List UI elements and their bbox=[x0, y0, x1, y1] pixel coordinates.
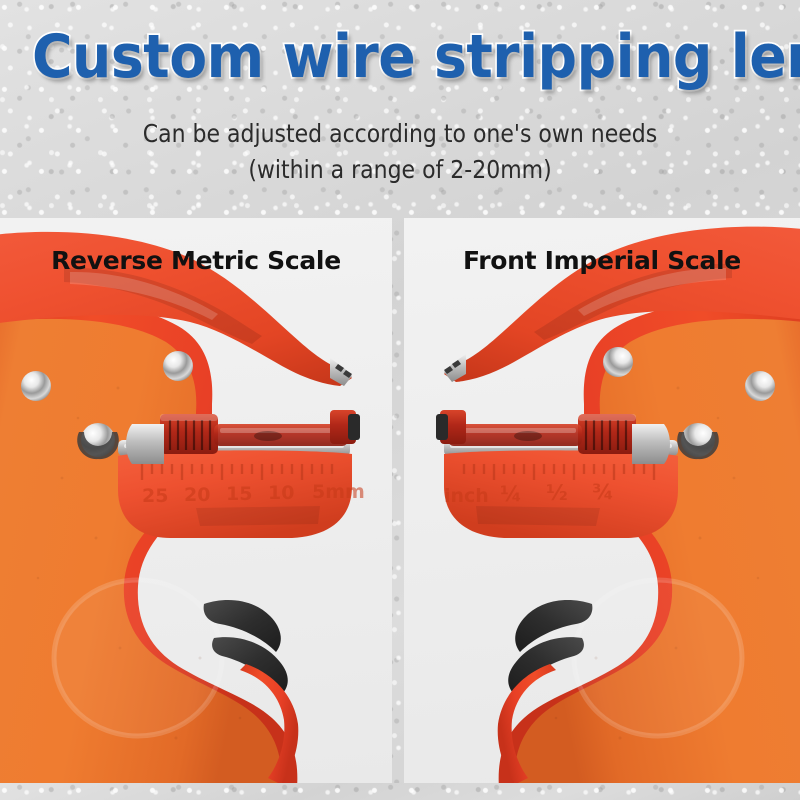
wire-stripper-tool-metric: 25 20 15 10 5mm bbox=[0, 218, 392, 783]
rivet-upper-left bbox=[745, 371, 775, 401]
slider-stop-cap bbox=[436, 414, 448, 440]
slider-arm-slot bbox=[514, 431, 542, 441]
slider-highlight bbox=[578, 414, 636, 421]
subtitle-line-1: Can be adjusted according to one's own n… bbox=[48, 116, 752, 152]
slider-highlight bbox=[160, 414, 218, 421]
lower-jaw-emboss bbox=[196, 506, 320, 526]
slider-arm-slot bbox=[254, 431, 282, 441]
scale-mark-15: 15 bbox=[226, 483, 252, 505]
page-title: Custom wire stripping length bbox=[32, 24, 768, 90]
scale-mark-quarter: ¼ bbox=[500, 482, 522, 506]
chrome-side-plate bbox=[632, 424, 670, 464]
scale-mark-10: 10 bbox=[268, 482, 294, 504]
slider-arm-highlight bbox=[456, 428, 576, 433]
product-feature-image: Custom wire stripping length Can be adju… bbox=[0, 0, 800, 800]
rivet-upper-right bbox=[163, 351, 193, 381]
rivet-upper-right bbox=[603, 347, 633, 377]
panel-front-imperial-scale: inch ¼ ½ ¾ bbox=[404, 218, 800, 783]
scale-mark-5mm: 5mm bbox=[312, 481, 365, 503]
bottom-strip bbox=[0, 783, 800, 800]
rivet-upper-left bbox=[21, 371, 51, 401]
panel-label-front-imperial: Front Imperial Scale bbox=[404, 246, 800, 275]
scale-mark-inch: inch bbox=[444, 485, 489, 507]
lower-jaw-emboss bbox=[476, 506, 600, 526]
slider-arm-highlight bbox=[220, 428, 340, 433]
scale-mark-three-quarter: ¾ bbox=[592, 480, 614, 504]
subtitle-line-2: (within a range of 2-20mm) bbox=[48, 152, 752, 188]
scale-mark-half: ½ bbox=[546, 481, 568, 505]
comparison-panels: 25 20 15 10 5mm bbox=[0, 218, 800, 783]
chrome-side-plate bbox=[126, 424, 164, 464]
handle-emboss-fill bbox=[574, 580, 742, 736]
header-banner: Custom wire stripping length Can be adju… bbox=[0, 0, 800, 218]
scale-mark-20: 20 bbox=[184, 484, 210, 506]
slider-stop-cap bbox=[348, 414, 360, 440]
panel-label-reverse-metric: Reverse Metric Scale bbox=[0, 246, 392, 275]
scale-mark-25: 25 bbox=[142, 485, 168, 507]
wire-stripper-tool-imperial: inch ¼ ½ ¾ bbox=[404, 218, 800, 783]
handle-emboss-fill bbox=[54, 580, 222, 736]
panel-reverse-metric-scale: 25 20 15 10 5mm bbox=[0, 218, 392, 783]
